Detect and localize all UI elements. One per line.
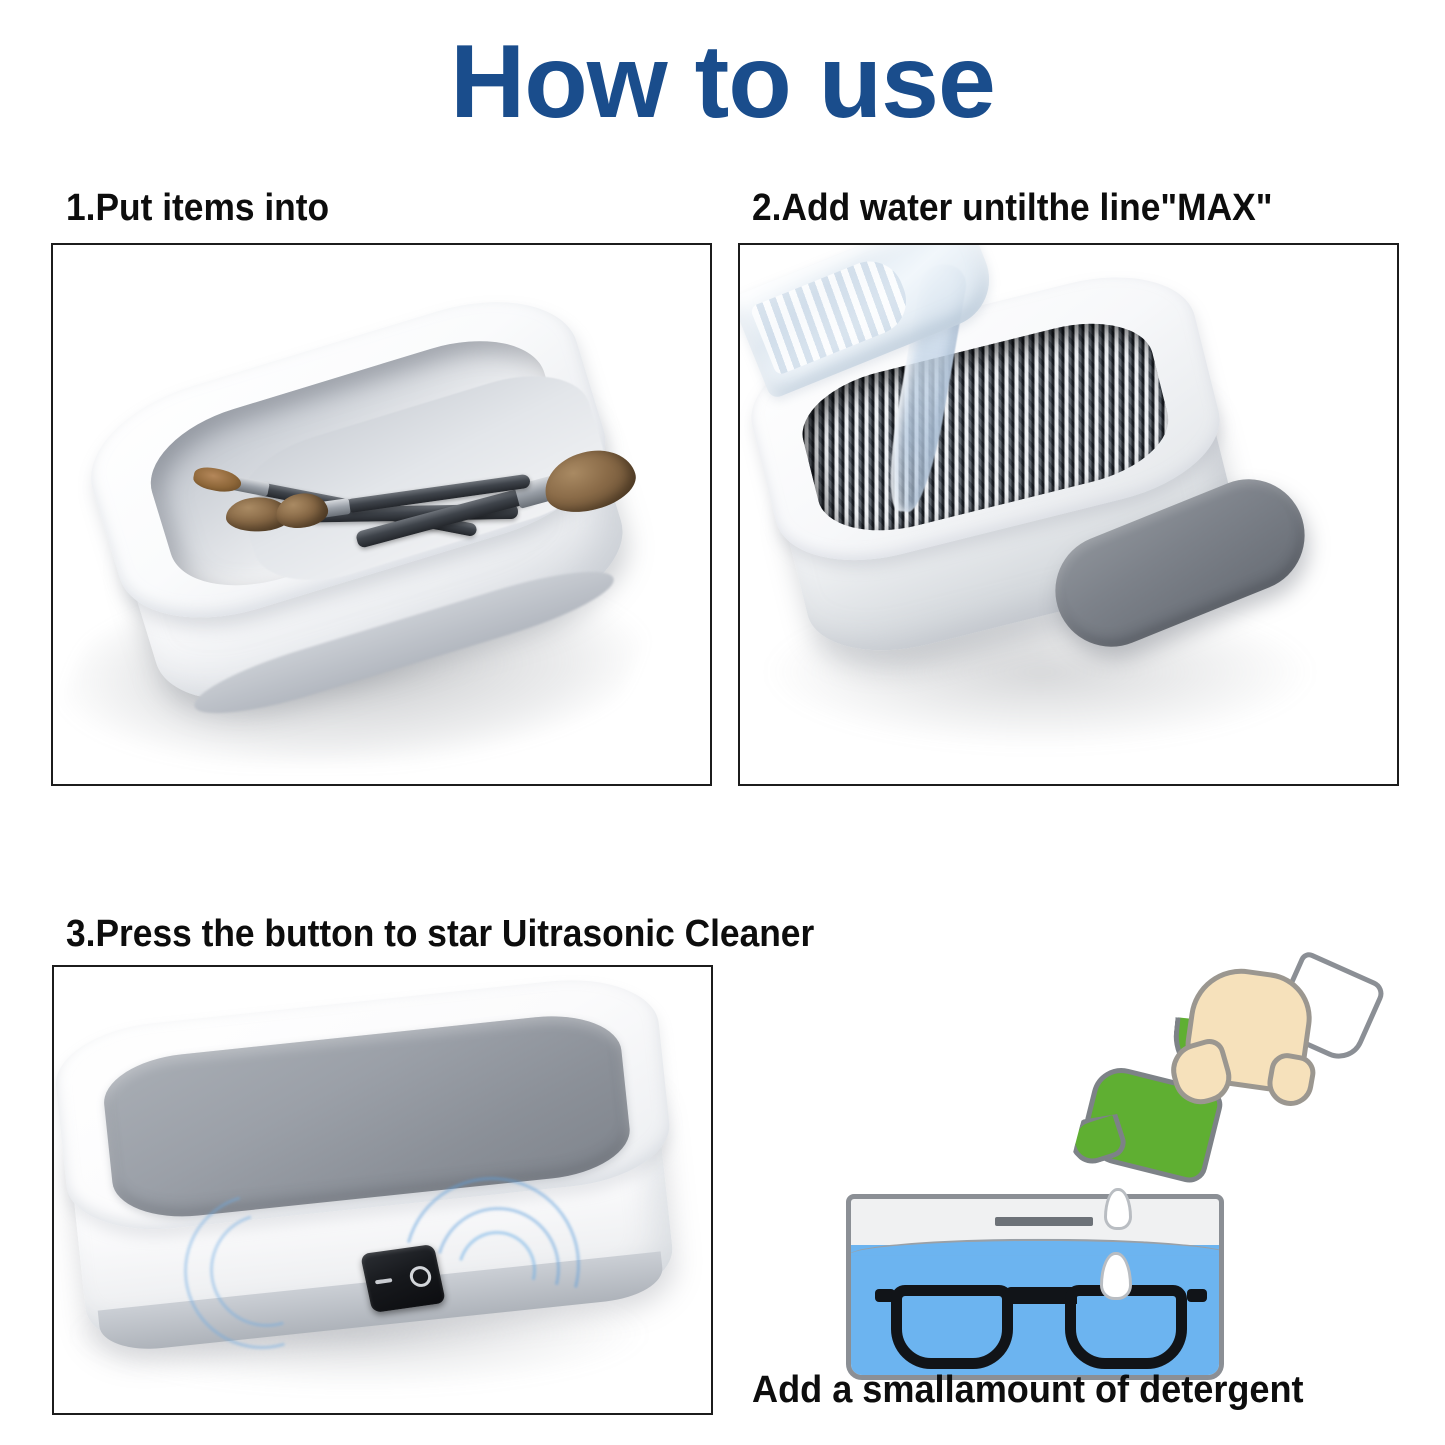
step-2-photo bbox=[738, 243, 1399, 786]
detergent-caption: Add a smallamount of detergent bbox=[752, 1368, 1304, 1412]
glasses-lens-left bbox=[891, 1285, 1013, 1369]
step-1-heading: 1.Put items into bbox=[66, 186, 329, 230]
ultrasonic-cleaner-with-brushes-image bbox=[53, 245, 710, 784]
pouring-water-into-cleaner-image bbox=[740, 245, 1397, 784]
hand-finger-back bbox=[1264, 1050, 1318, 1109]
detergent-illustration bbox=[838, 962, 1428, 1366]
glasses-temple-right bbox=[1187, 1289, 1207, 1302]
glasses-lens-right bbox=[1065, 1285, 1187, 1369]
step-1-photo bbox=[51, 243, 712, 786]
page-title: How to use bbox=[0, 26, 1445, 138]
max-level-line bbox=[995, 1217, 1093, 1226]
step-2-heading: 2.Add water untilthe line"MAX" bbox=[752, 186, 1272, 230]
cleaner-running-image bbox=[54, 967, 711, 1413]
hand-icon bbox=[1162, 970, 1342, 1122]
sonic-wave-indicator bbox=[174, 1167, 594, 1357]
illustration-tank bbox=[846, 1194, 1224, 1380]
step-3-photo bbox=[52, 965, 713, 1415]
eyeglasses-icon bbox=[891, 1285, 1191, 1373]
step-3-heading: 3.Press the button to star Uitrasonic Cl… bbox=[66, 912, 814, 956]
